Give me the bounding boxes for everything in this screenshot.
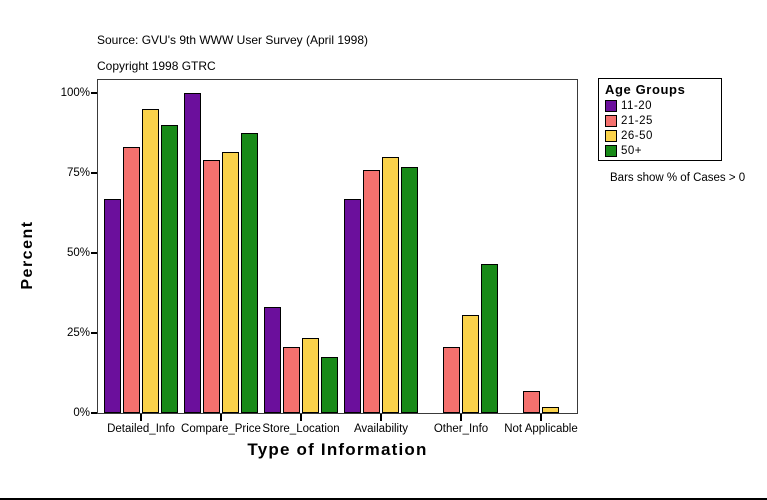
y-axis-title: Percent xyxy=(19,210,37,300)
x-tick-label: Not Applicable xyxy=(504,423,578,435)
x-tick-mark xyxy=(380,414,382,421)
legend-item-label: 50+ xyxy=(621,145,642,157)
y-tick-label: 25% xyxy=(67,327,90,339)
bar xyxy=(222,152,239,413)
bar xyxy=(382,157,399,413)
x-tick-label: Compare_Price xyxy=(181,423,261,435)
source-caption: Source: GVU's 9th WWW User Survey (April… xyxy=(97,33,368,47)
bar xyxy=(481,264,498,413)
bar xyxy=(523,391,540,413)
legend-item-label: 11-20 xyxy=(621,100,652,112)
bar xyxy=(142,109,159,413)
y-tick-label: 100% xyxy=(61,87,90,99)
bar xyxy=(542,407,559,413)
plot-area xyxy=(97,79,578,414)
bar xyxy=(302,338,319,413)
legend-swatch-icon xyxy=(605,130,617,142)
x-tick-mark xyxy=(220,414,222,421)
bar xyxy=(241,133,258,413)
bar xyxy=(264,307,281,413)
bar xyxy=(104,199,121,413)
bar xyxy=(123,147,140,413)
legend-title: Age Groups xyxy=(605,82,721,97)
x-tick-mark xyxy=(140,414,142,421)
y-tick-label: 0% xyxy=(73,407,90,419)
bar xyxy=(344,199,361,413)
y-tick-label: 50% xyxy=(67,247,90,259)
bar xyxy=(161,125,178,413)
legend-swatch-icon xyxy=(605,100,617,112)
bar xyxy=(283,347,300,413)
legend-swatch-icon xyxy=(605,145,617,157)
bar xyxy=(203,160,220,413)
legend-item-label: 21-25 xyxy=(621,115,653,127)
x-tick-label: Availability xyxy=(354,423,408,435)
legend-item: 26-50 xyxy=(605,129,721,143)
legend-item-label: 26-50 xyxy=(621,130,653,142)
chart-container: Source: GVU's 9th WWW User Survey (April… xyxy=(0,0,767,500)
bar xyxy=(462,315,479,413)
x-tick-mark xyxy=(300,414,302,421)
legend-entries: 11-2021-2526-5050+ xyxy=(605,99,721,158)
x-tick-label: Store_Location xyxy=(262,423,339,435)
x-tick-label: Detailed_Info xyxy=(107,423,175,435)
bar xyxy=(443,347,460,413)
x-tick-mark xyxy=(540,414,542,421)
legend-footnote: Bars show % of Cases > 0 xyxy=(610,172,745,184)
y-tick-label: 75% xyxy=(67,167,90,179)
bar xyxy=(321,357,338,413)
bar xyxy=(184,93,201,413)
x-tick-mark xyxy=(460,414,462,421)
bar xyxy=(363,170,380,413)
legend-item: 21-25 xyxy=(605,114,721,128)
bar xyxy=(401,167,418,413)
x-tick-label: Other_Info xyxy=(434,423,488,435)
legend-item: 50+ xyxy=(605,144,721,158)
copyright-caption: Copyright 1998 GTRC xyxy=(97,59,216,73)
x-axis-title: Type of Information xyxy=(0,440,675,460)
legend-item: 11-20 xyxy=(605,99,721,113)
legend-swatch-icon xyxy=(605,115,617,127)
legend: Age Groups 11-2021-2526-5050+ xyxy=(598,78,722,161)
